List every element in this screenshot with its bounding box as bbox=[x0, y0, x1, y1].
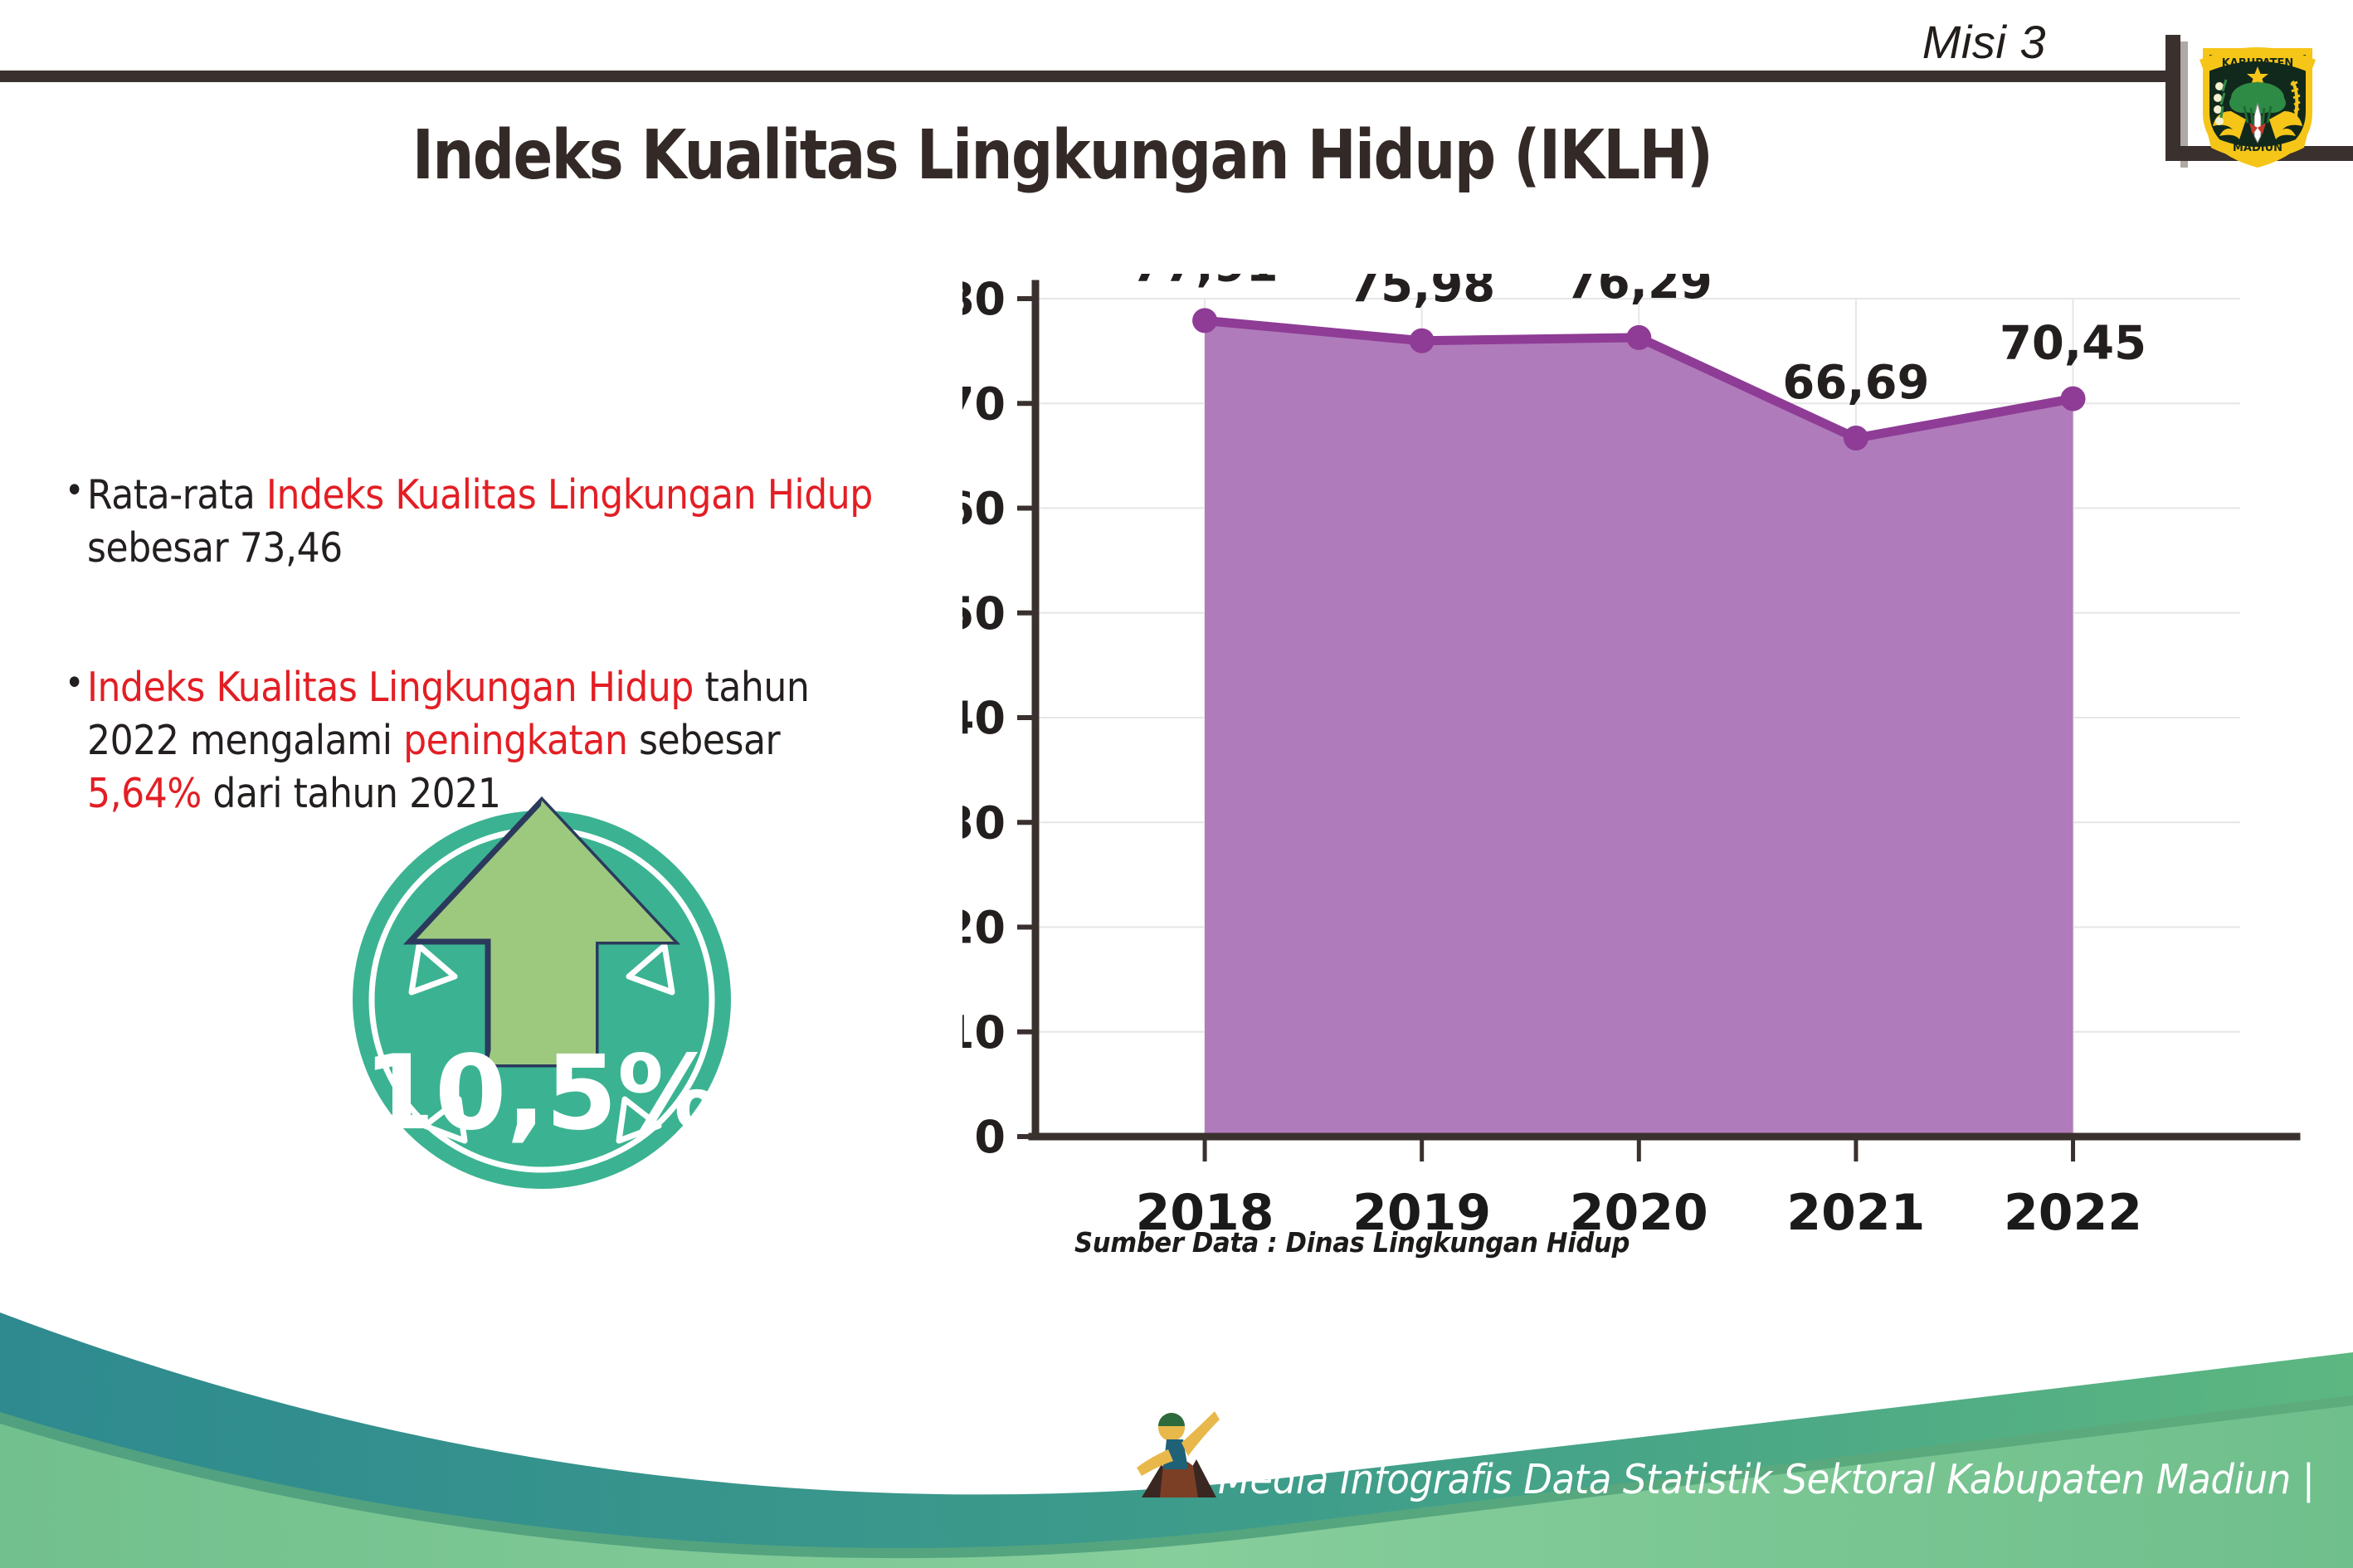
area-fill bbox=[1205, 320, 2073, 1137]
y-tick-label: 10 bbox=[962, 1006, 1006, 1059]
growth-percentage-badge: 10,5% bbox=[322, 751, 762, 1191]
iklh-area-chart: 01020304050607080 20182019202020212022 7… bbox=[962, 274, 2307, 1253]
data-point-label: 76,29 bbox=[1566, 274, 1712, 309]
statistics-figure-icon bbox=[1133, 1400, 1223, 1522]
y-tick-label: 20 bbox=[962, 902, 1006, 954]
kabupaten-madiun-logo-icon: KABUPATEN MADIUN bbox=[2195, 30, 2321, 171]
y-tick-label: 40 bbox=[962, 692, 1006, 744]
badge-value-text: 10,5% bbox=[363, 1034, 720, 1153]
y-tick-label: 60 bbox=[962, 483, 1006, 535]
x-tick-label: 2021 bbox=[1786, 1184, 1925, 1242]
misi-label: Misi 3 bbox=[1922, 15, 2046, 69]
bullet-part-accent: Indeks Kualitas Lingkungan Hidup bbox=[87, 664, 694, 711]
data-point-label: 66,69 bbox=[1782, 356, 1929, 410]
x-tick-label: 2022 bbox=[2004, 1184, 2142, 1242]
bullet-item-average: Rata-rata Indeks Kualitas Lingkungan Hid… bbox=[65, 469, 879, 574]
header-divider-line bbox=[0, 71, 2175, 82]
svg-text:MADIUN: MADIUN bbox=[2233, 142, 2282, 154]
chart-source-note: Sumber Data : Dinas Lingkungan Hidup bbox=[1074, 1226, 1630, 1259]
bullet-part: sebesar 73,46 bbox=[87, 524, 343, 572]
header-bracket-vertical bbox=[2165, 35, 2180, 161]
y-tick-label: 80 bbox=[962, 274, 1006, 325]
data-point-marker bbox=[1626, 325, 1651, 350]
page-title: Indeks Kualitas Lingkungan Hidup (IKLH) bbox=[149, 116, 1975, 195]
bullet-part: Rata-rata bbox=[87, 471, 266, 519]
data-point-marker bbox=[1844, 426, 1868, 450]
data-point-marker bbox=[1192, 308, 1217, 333]
data-point-label: 77,91 bbox=[1131, 274, 1278, 292]
y-axis-tick-labels: 01020304050607080 bbox=[962, 274, 1006, 1163]
footer-caption: Media Infografis Data Statistik Sektoral… bbox=[1218, 1456, 2314, 1503]
data-point-marker bbox=[2061, 387, 2086, 411]
y-tick-label: 50 bbox=[962, 587, 1006, 640]
bullet-part-accent: Indeks Kualitas Lingkungan Hidup bbox=[266, 471, 873, 519]
y-tick-label: 30 bbox=[962, 796, 1006, 849]
data-point-label: 75,98 bbox=[1348, 274, 1495, 313]
bullet-part-accent: 5,64% bbox=[87, 770, 202, 817]
data-point-marker bbox=[1410, 329, 1435, 353]
y-tick-label: 70 bbox=[962, 377, 1006, 430]
data-point-label: 70,45 bbox=[2000, 317, 2146, 371]
y-tick-label: 0 bbox=[974, 1111, 1006, 1163]
